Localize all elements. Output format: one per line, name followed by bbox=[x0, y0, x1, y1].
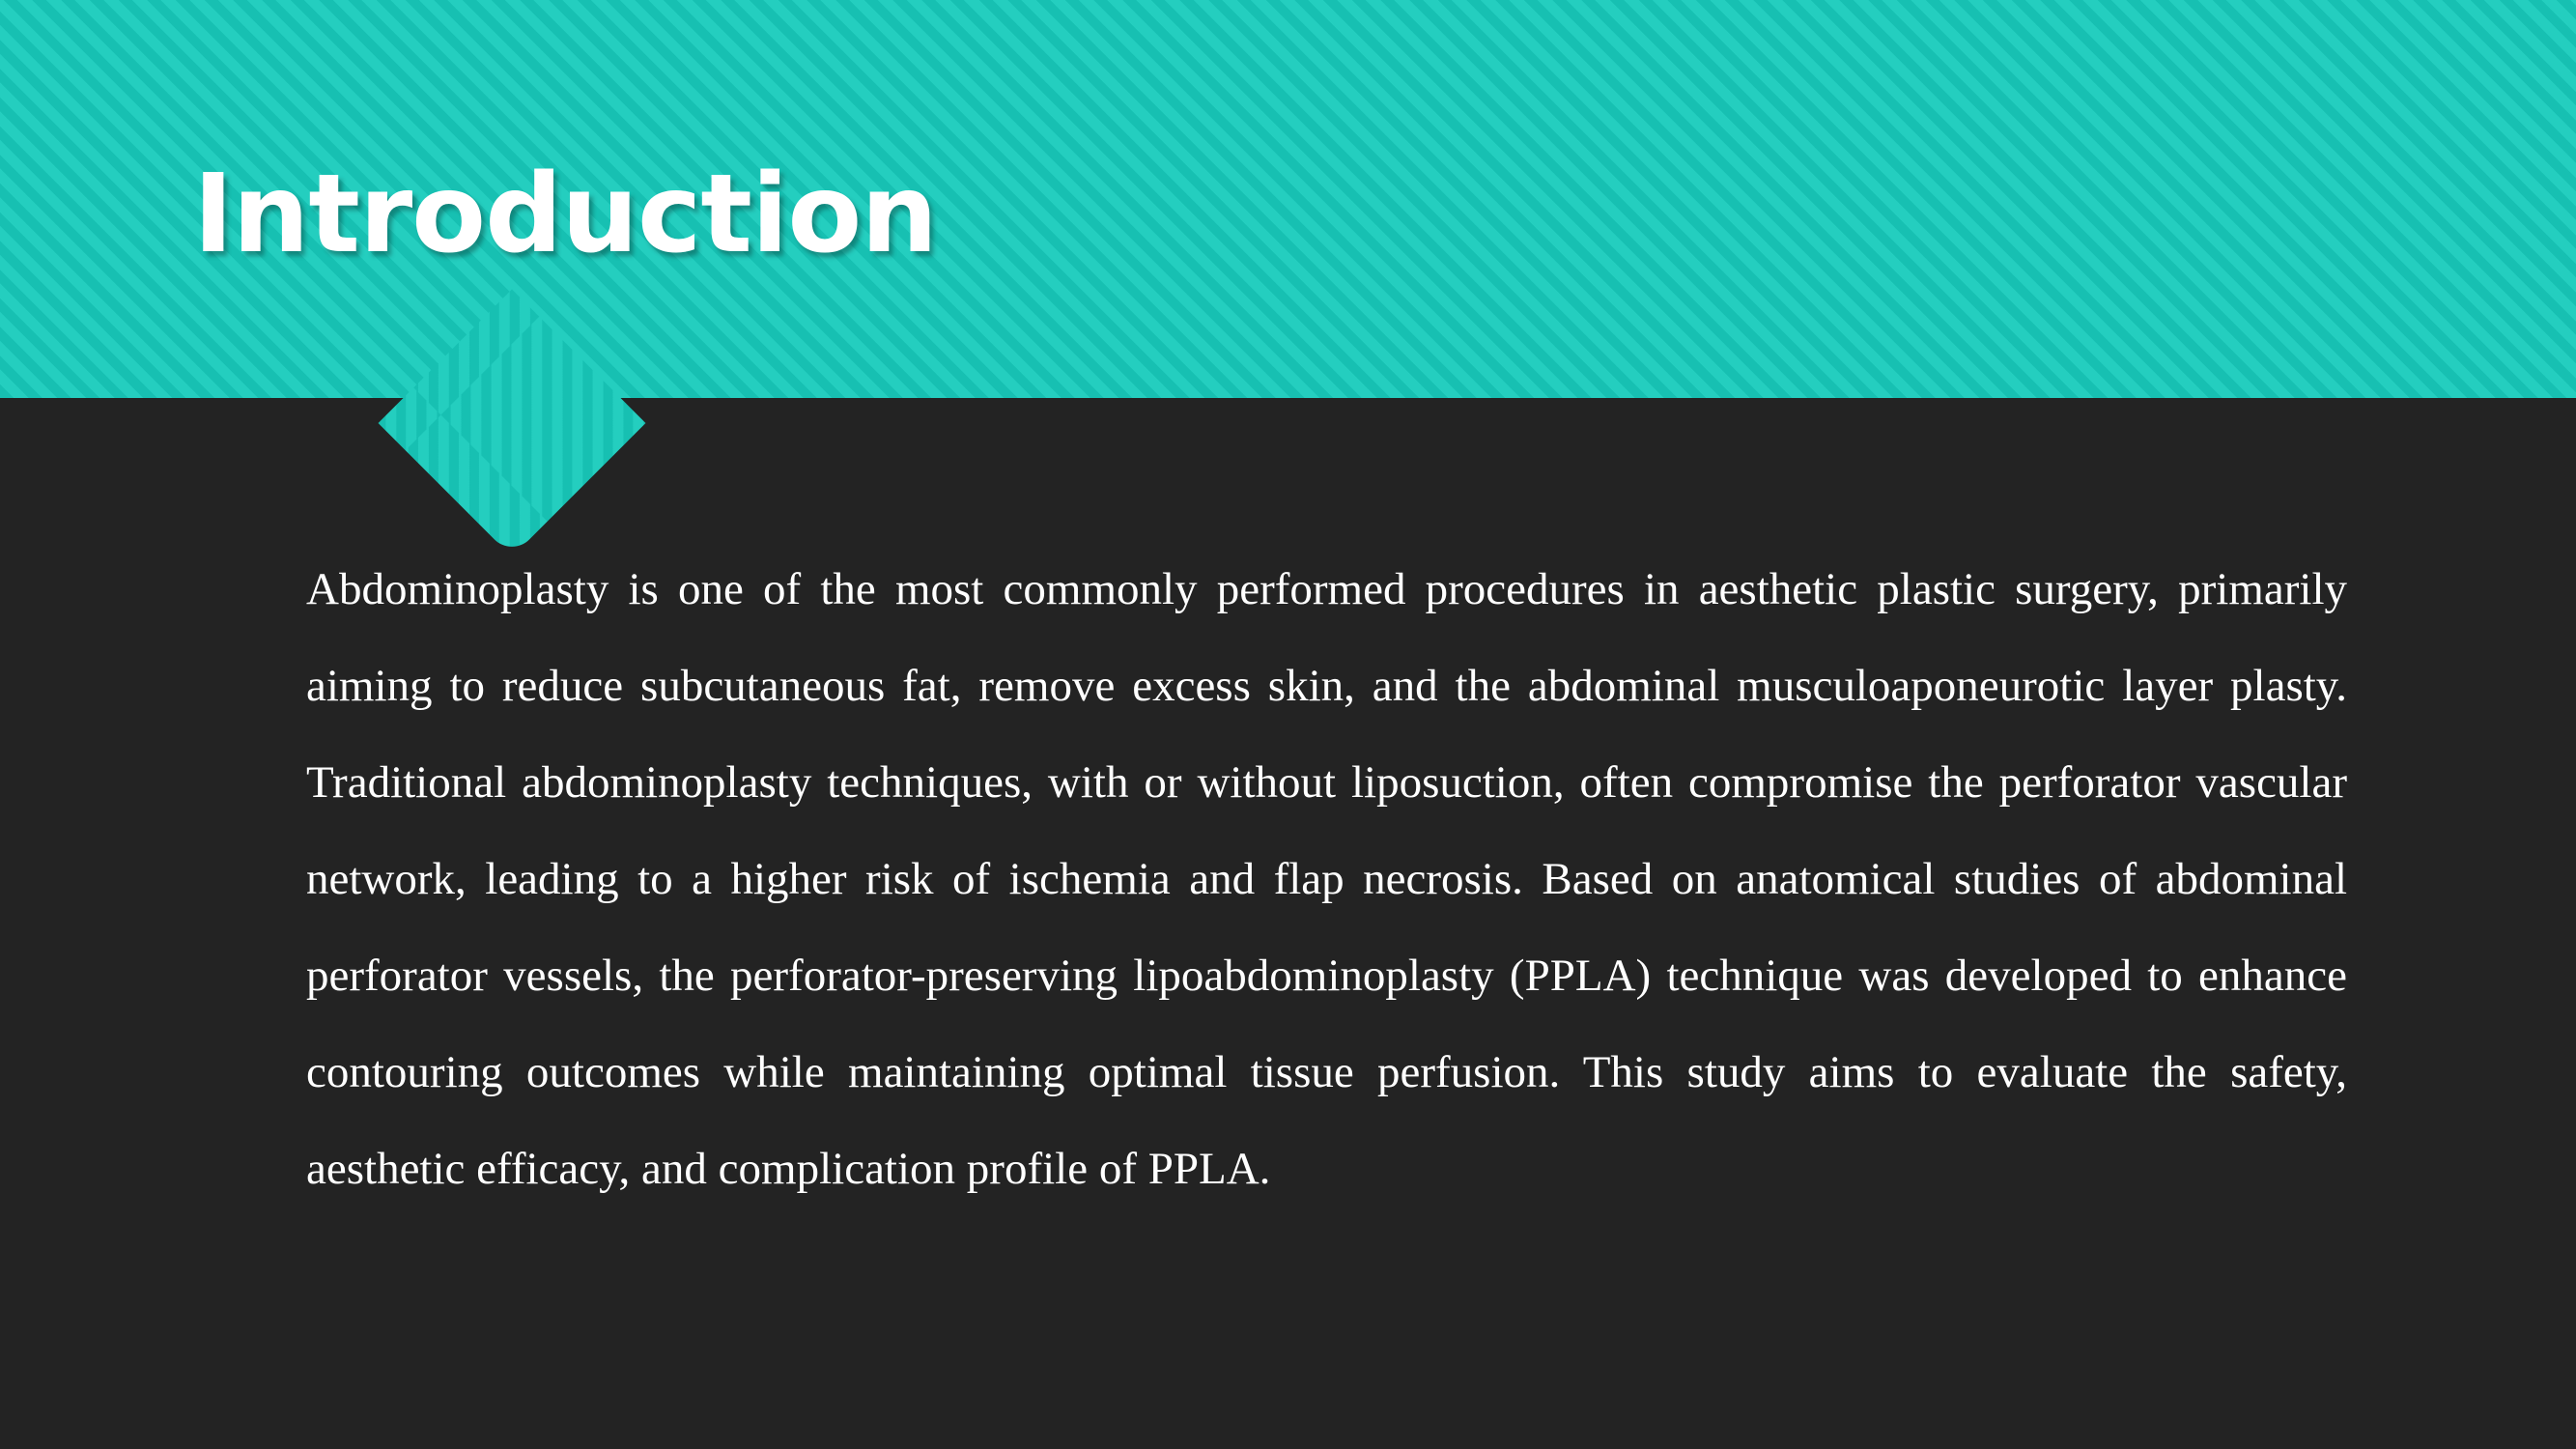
presentation-slide: Introduction Abdominoplasty is one of th… bbox=[0, 0, 2576, 1449]
page-title: Introduction bbox=[193, 155, 937, 275]
body-content: Abdominoplasty is one of the most common… bbox=[306, 541, 2347, 1217]
body-paragraph: Abdominoplasty is one of the most common… bbox=[306, 541, 2347, 1217]
